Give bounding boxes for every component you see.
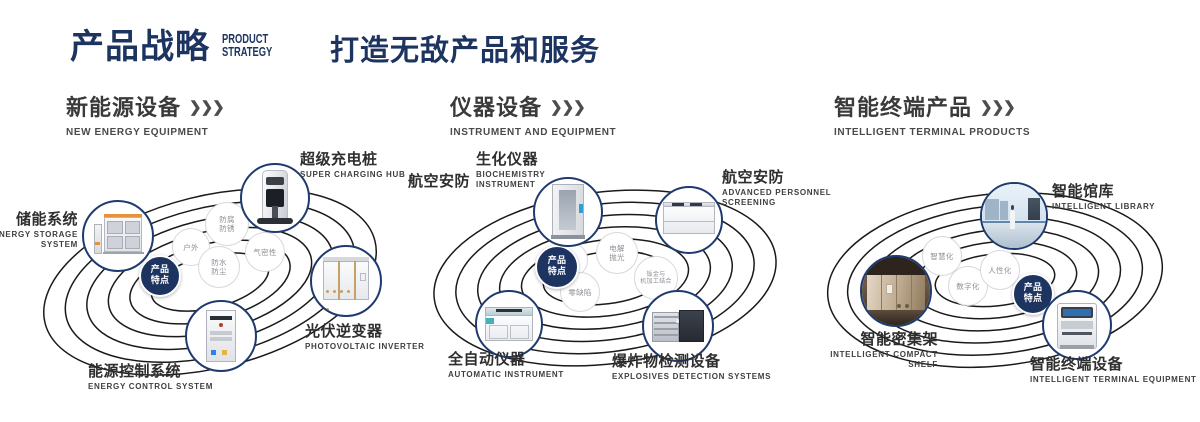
section-heading-en: NEW ENERGY EQUIPMENT bbox=[66, 127, 224, 138]
caption-en: INTELLIGENT TERMINAL EQUIPMENT bbox=[1030, 375, 1197, 385]
terminal-kiosk-photo bbox=[1044, 292, 1110, 358]
masthead: 产品战略 PRODUCT STRATEGY 打造无敌产品和服务 bbox=[0, 0, 1200, 88]
chevrons-icon: ❯❯❯ bbox=[550, 95, 585, 121]
feature-bubble-label: 机加工结合 bbox=[640, 278, 672, 286]
feature-bubble-label: 抛光 bbox=[609, 253, 625, 262]
node-intelligent-terminal-equipment[interactable] bbox=[1042, 290, 1112, 360]
caption-intelligent-compact-shelf: 智能密集架 INTELLIGENT COMPACTSHELF bbox=[808, 330, 938, 370]
feature-bubble: 电解抛光 bbox=[596, 232, 638, 274]
section-heading-cn: 仪器设备❯❯❯ bbox=[450, 95, 616, 122]
caption-cn: 智能终端设备 bbox=[1030, 355, 1197, 373]
core-bubble-line2: 特点 bbox=[151, 276, 170, 287]
page-title-cn: 产品战略 bbox=[70, 27, 210, 67]
caption-en: EXPLOSIVES DETECTION SYSTEMS bbox=[612, 372, 771, 382]
node-intelligent-library[interactable] bbox=[980, 182, 1048, 250]
core-bubble-line1: 产品 bbox=[548, 256, 567, 267]
core-bubble-line2: 特点 bbox=[1024, 294, 1043, 305]
caption-aviation-security-left: 航空安防 bbox=[408, 172, 470, 190]
caption-en: INTELLIGENT LIBRARY bbox=[1052, 202, 1155, 212]
caption-super-charging-hub: 超级充电桩 SUPER CHARGING HUB bbox=[300, 150, 406, 180]
automatic-instrument-photo bbox=[477, 292, 541, 356]
feature-bubble: 气密性 bbox=[245, 232, 285, 272]
feature-bubble-label: 防水 bbox=[211, 258, 227, 267]
caption-energy-control-system: 能源控制系统 ENERGY CONTROL SYSTEM bbox=[88, 362, 213, 392]
diagram-intelligent-terminal-products: 智慧化 数字化 人性化 产品特点 智能馆库 INTELLIGENT LIBRAR… bbox=[790, 150, 1200, 410]
feature-bubble-label: 人性化 bbox=[988, 266, 1011, 275]
feature-bubble: 防水防尘 bbox=[198, 246, 240, 288]
caption-en: AUTOMATIC INSTRUMENT bbox=[448, 370, 564, 380]
energy-storage-cabinet-photo bbox=[84, 202, 152, 270]
inverter-cabinet-photo bbox=[312, 247, 380, 315]
feature-bubble-label: 防腐 bbox=[219, 215, 235, 224]
feature-bubble-label: 智慧化 bbox=[930, 252, 953, 261]
caption-cn: 全自动仪器 bbox=[448, 350, 564, 368]
section-heading-cn: 智能终端产品❯❯❯ bbox=[834, 95, 1030, 122]
section-heading-en: INSTRUMENT AND EQUIPMENT bbox=[450, 127, 616, 138]
caption-intelligent-terminal-equipment: 智能终端设备 INTELLIGENT TERMINAL EQUIPMENT bbox=[1030, 355, 1197, 385]
page-slogan: 打造无敌产品和服务 bbox=[330, 32, 600, 68]
feature-bubble-label: 钣金与 bbox=[640, 271, 672, 279]
caption-biochemistry-instrument: 生化仪器 BIOCHEMISTRYINSTRUMENT bbox=[476, 150, 545, 190]
feature-bubble-label: 防锈 bbox=[219, 224, 235, 233]
page-title-en: PRODUCT STRATEGY bbox=[222, 32, 272, 58]
feature-bubble-label: 防尘 bbox=[211, 267, 227, 276]
library-room-photo bbox=[982, 184, 1046, 248]
diagram-new-energy-equipment: 户外 防腐防锈 防水防尘 气密性 产品特点 储能系统 ENERGY STORAG… bbox=[0, 150, 420, 410]
node-automatic-instrument[interactable] bbox=[475, 290, 543, 358]
node-advanced-personnel-screening[interactable] bbox=[655, 186, 723, 254]
caption-energy-storage-system: 储能系统 ENERGY STORAGESYSTEM bbox=[0, 210, 78, 250]
page-title-en-line2: STRATEGY bbox=[222, 45, 272, 58]
feature-bubble-label: 零缺陷 bbox=[568, 288, 591, 297]
section-heading-cn: 新能源设备❯❯❯ bbox=[66, 95, 224, 122]
feature-bubble-label: 电解 bbox=[609, 244, 625, 253]
caption-intelligent-library: 智能馆库 INTELLIGENT LIBRARY bbox=[1052, 182, 1155, 212]
feature-bubble-label: 气密性 bbox=[253, 248, 276, 257]
section-header-new-energy-equipment: 新能源设备❯❯❯ NEW ENERGY EQUIPMENT bbox=[66, 95, 224, 138]
section-header-intelligent-terminal-products: 智能终端产品❯❯❯ INTELLIGENT TERMINAL PRODUCTS bbox=[834, 95, 1030, 138]
caption-cn: 超级充电桩 bbox=[300, 150, 406, 168]
core-bubble-line1: 产品 bbox=[1024, 283, 1043, 294]
caption-cn: 能源控制系统 bbox=[88, 362, 213, 380]
chevrons-icon: ❯❯❯ bbox=[189, 95, 224, 121]
compact-shelf-photo bbox=[862, 257, 930, 325]
node-energy-storage-system[interactable] bbox=[82, 200, 154, 272]
caption-cn: 生化仪器 bbox=[476, 150, 545, 168]
caption-en: BIOCHEMISTRYINSTRUMENT bbox=[476, 170, 545, 190]
section-heading-en: INTELLIGENT TERMINAL PRODUCTS bbox=[834, 127, 1030, 138]
chevrons-icon: ❯❯❯ bbox=[980, 95, 1015, 121]
caption-automatic-instrument: 全自动仪器 AUTOMATIC INSTRUMENT bbox=[448, 350, 564, 380]
caption-cn: 智能馆库 bbox=[1052, 182, 1155, 200]
caption-en: INTELLIGENT COMPACTSHELF bbox=[808, 350, 938, 370]
feature-bubble-label: 数字化 bbox=[956, 282, 979, 291]
caption-en: ENERGY CONTROL SYSTEM bbox=[88, 382, 213, 392]
caption-cn: 储能系统 bbox=[0, 210, 78, 228]
core-bubble-line2: 特点 bbox=[548, 267, 567, 278]
control-cabinet-photo bbox=[187, 302, 255, 370]
infographic-page: 产品战略 PRODUCT STRATEGY 打造无敌产品和服务 新能源设备❯❯❯… bbox=[0, 0, 1200, 422]
core-bubble: 产品特点 bbox=[535, 245, 579, 289]
node-photovoltaic-inverter[interactable] bbox=[310, 245, 382, 317]
node-intelligent-compact-shelf[interactable] bbox=[860, 255, 932, 327]
screening-machine-photo bbox=[657, 188, 721, 252]
caption-cn: 智能密集架 bbox=[808, 330, 938, 348]
feature-bubble-label: 户外 bbox=[183, 243, 199, 252]
caption-cn: 航空安防 bbox=[408, 172, 470, 190]
core-bubble-line1: 产品 bbox=[151, 265, 170, 276]
section-header-instrument-and-equipment: 仪器设备❯❯❯ INSTRUMENT AND EQUIPMENT bbox=[450, 95, 616, 138]
diagram-instrument-and-equipment: 镜面 电解抛光 零缺陷 钣金与机加工结合 产品特点 航空安防 生化仪器 BIOC… bbox=[400, 150, 820, 410]
caption-explosives-detection-systems: 爆炸物检测设备 EXPLOSIVES DETECTION SYSTEMS bbox=[612, 352, 771, 382]
charging-pile-photo bbox=[242, 165, 308, 231]
explosives-detector-photo bbox=[644, 292, 712, 360]
caption-en: SUPER CHARGING HUB bbox=[300, 170, 406, 180]
caption-en: ENERGY STORAGESYSTEM bbox=[0, 230, 78, 250]
caption-cn: 爆炸物检测设备 bbox=[612, 352, 771, 370]
